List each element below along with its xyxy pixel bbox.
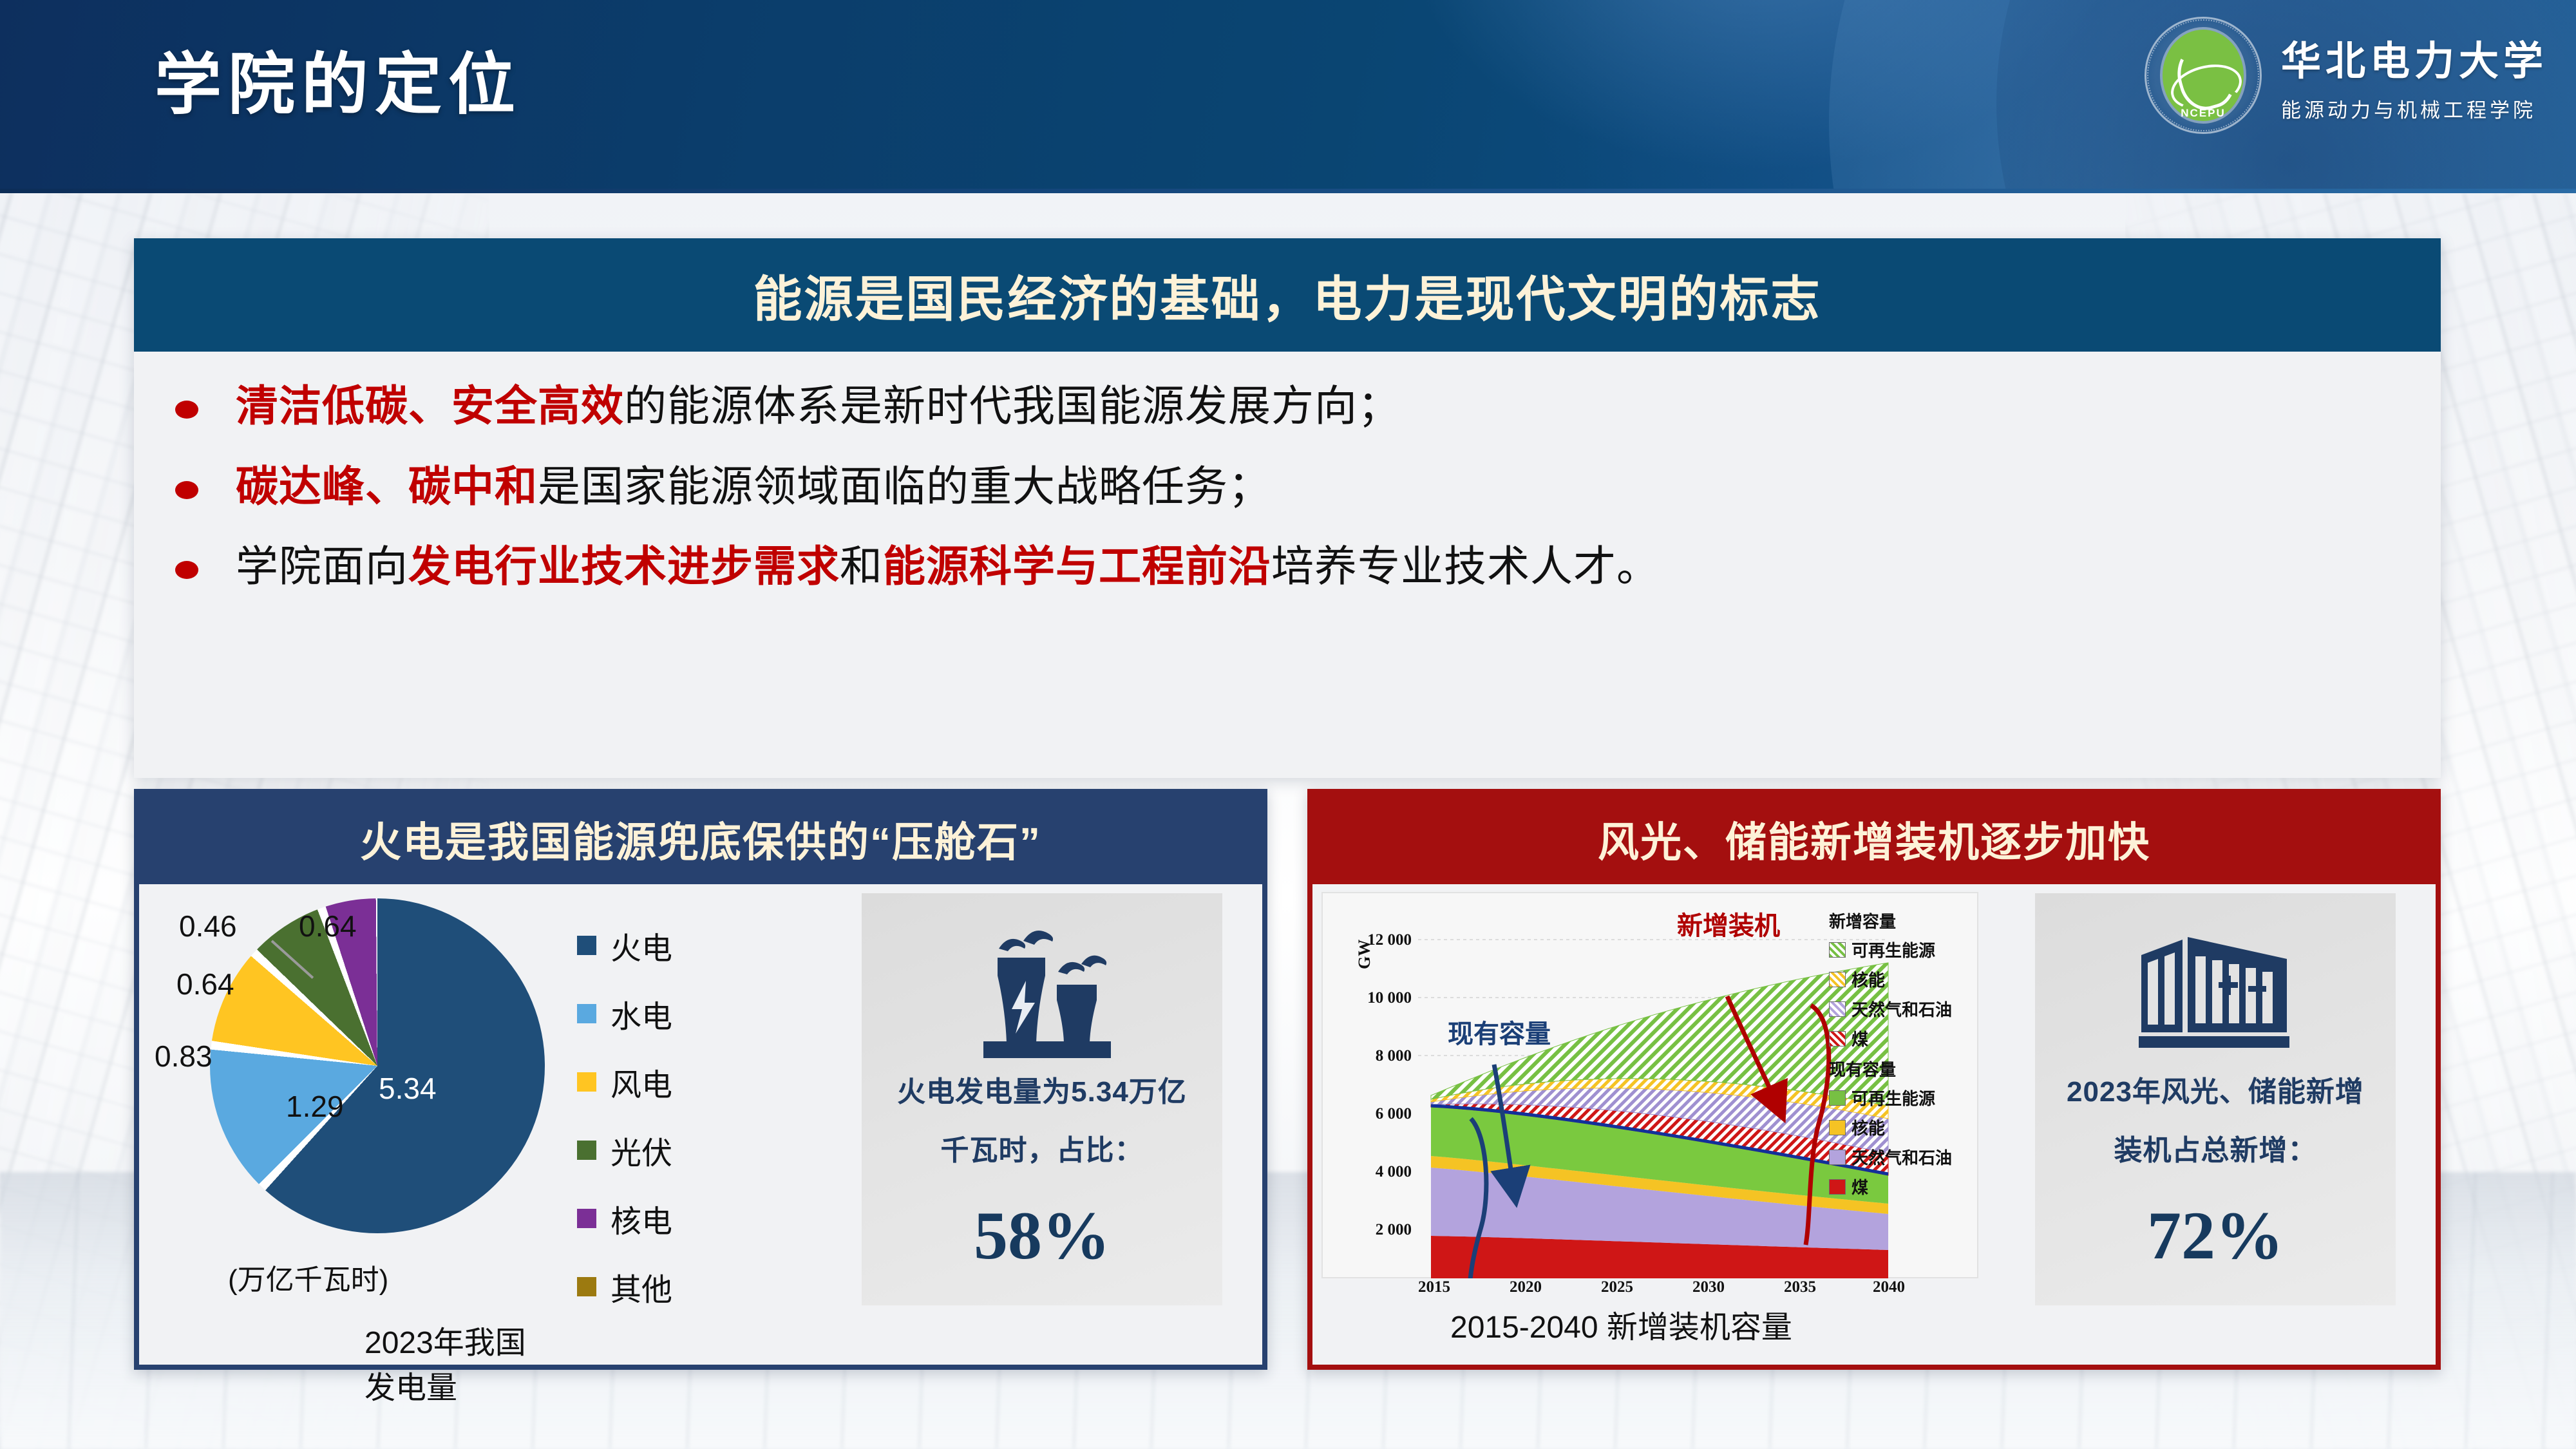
battery-container-icon <box>2135 915 2296 1076</box>
panel-right-body: 12 000 10 000 8 000 6 000 4 000 2 000 GW <box>1312 884 2436 1365</box>
pie-chart: 5.34 1.29 0.83 0.64 0.46 0.64 (万亿千瓦时) 20… <box>210 898 545 1233</box>
slide-header: 学院的定位 NCEPU 华北电力大学 能源动力与机械工程学院 <box>0 0 2576 193</box>
bullet-text: 清洁低碳、安全高效的能源体系是新时代我国能源发展方向； <box>236 380 1401 432</box>
legend-swatch-icon <box>577 1209 596 1228</box>
pie-label-fengdian: 0.83 <box>155 1039 213 1074</box>
thermal-stat-region: 火电发电量为5.34万亿 千瓦时，占比： 58% <box>822 884 1262 1365</box>
area-chart-legend: 新增容量可再生能源核能天然气和石油煤现有容量可再生能源核能天然气和石油煤 <box>1829 902 1990 1204</box>
area-legend-swatch-icon <box>1829 1001 1846 1017</box>
pie-slices <box>210 898 545 1233</box>
area-legend-swatch-icon <box>1829 1179 1846 1195</box>
bullet-item-2: 碳达峰、碳中和是国家能源领域面临的重大战略任务； <box>175 460 2401 513</box>
legend-swatch-icon <box>577 1277 596 1296</box>
area-legend-group-title-1: 新增容量 <box>1829 909 1990 933</box>
pie-chart-region: 5.34 1.29 0.83 0.64 0.46 0.64 (万亿千瓦时) 20… <box>139 884 822 1365</box>
svg-text:GW: GW <box>1355 940 1374 969</box>
area-legend-swatch-icon <box>1829 1090 1846 1106</box>
pie-legend-item-火电: 火电 <box>577 923 672 968</box>
storage-stat-line2: 装机占总新增： <box>2114 1135 2317 1168</box>
panel-renewable-storage: 风光、储能新增装机逐步加快 <box>1307 789 2441 1370</box>
bullet-item-3: 学院面向发电行业技术进步需求和能源科学与工程前沿培养专业技术人才。 <box>175 540 2401 592</box>
pie-label-hedian: 0.46 <box>179 909 237 943</box>
bullet-list: 清洁低碳、安全高效的能源体系是新时代我国能源发展方向；碳达峰、碳中和是国家能源领… <box>134 352 2441 592</box>
bullet-text: 学院面向发电行业技术进步需求和能源科学与工程前沿培养专业技术人才。 <box>236 540 1660 592</box>
svg-text:8 000: 8 000 <box>1376 1047 1412 1065</box>
area-legend-item-煤: 煤 <box>1829 1027 1990 1050</box>
bullet-segment-1: 学院面向 <box>236 542 408 590</box>
legend-swatch-icon <box>577 936 596 955</box>
svg-text:2 000: 2 000 <box>1376 1221 1412 1238</box>
storage-stat-value: 72% <box>2147 1197 2284 1275</box>
pie-legend-item-风电: 风电 <box>577 1059 672 1104</box>
pie-label-shuidian: 1.29 <box>286 1089 344 1124</box>
xtick-2025: 2025 <box>1601 1278 1633 1296</box>
xtick-2020: 2020 <box>1510 1278 1542 1296</box>
legend-swatch-icon <box>577 1141 596 1160</box>
area-legend-item-核能: 核能 <box>1829 967 1990 991</box>
storage-stat-region: 2023年风光、储能新增 装机占总新增： 72% <box>1995 884 2436 1365</box>
area-legend-label: 核能 <box>1851 967 1885 991</box>
xtick-2030: 2030 <box>1692 1278 1725 1296</box>
bullet-segment-1: 清洁低碳、安全高效 <box>236 382 624 430</box>
pie-unit-note: (万亿千瓦时) <box>228 1256 388 1298</box>
area-legend-swatch-icon <box>1829 1031 1846 1046</box>
pie-label-qita: 0.64 <box>299 909 357 943</box>
bullet-segment-2: 是国家能源领域面临的重大战略任务； <box>538 462 1271 510</box>
logo-wordmark: 华北电力大学 能源动力与机械工程学院 <box>2281 28 2548 123</box>
pie-chart-caption: 2023年我国发电量 <box>365 1317 545 1407</box>
panel-thermal-power: 火电是我国能源兜底保供的“压舱石” 5.34 1.29 0.83 0.64 0.… <box>134 789 1267 1370</box>
area-chart-region: 12 000 10 000 8 000 6 000 4 000 2 000 GW <box>1312 884 1995 1365</box>
legend-swatch-icon <box>577 1072 596 1092</box>
area-legend-label: 天然气和石油 <box>1851 997 1952 1021</box>
area-legend-group-title-2: 现有容量 <box>1829 1057 1990 1081</box>
panel-left-body: 5.34 1.29 0.83 0.64 0.46 0.64 (万亿千瓦时) 20… <box>139 884 1262 1365</box>
area-legend-swatch-icon <box>1829 972 1846 987</box>
bullet-segment-1: 碳达峰、碳中和 <box>236 462 538 510</box>
slide-canvas: 学院的定位 NCEPU 华北电力大学 能源动力与机械工程学院 能源是国民经济的基… <box>0 0 2576 1449</box>
bullet-dot-icon <box>175 561 198 579</box>
pie-legend-label: 风电 <box>611 1059 672 1104</box>
panel-left-title: 火电是我国能源兜底保供的“压舱石” <box>360 810 1041 869</box>
bullet-text: 碳达峰、碳中和是国家能源领域面临的重大战略任务； <box>236 460 1271 513</box>
pie-legend-item-其他: 其他 <box>577 1264 672 1309</box>
annotation-new-capacity: 新增装机 <box>1677 905 1780 942</box>
pie-legend-label: 火电 <box>611 923 672 968</box>
xtick-2040: 2040 <box>1873 1278 1905 1296</box>
bullet-segment-3: 和 <box>840 542 883 590</box>
emblem-ncepu-text: NCEPU <box>2145 107 2262 120</box>
area-chart-caption: 2015-2040 新增装机容量 <box>1450 1302 1792 1347</box>
svg-text:10 000: 10 000 <box>1367 989 1412 1007</box>
thermal-stat-line1: 火电发电量为5.34万亿 <box>897 1076 1187 1109</box>
area-legend-item-煤: 煤 <box>1829 1175 1990 1198</box>
power-plant-icon <box>961 915 1122 1076</box>
bullet-item-1: 清洁低碳、安全高效的能源体系是新时代我国能源发展方向； <box>175 380 2401 432</box>
pie-legend-item-光伏: 光伏 <box>577 1128 672 1173</box>
bullet-segment-4: 能源科学与工程前沿 <box>883 542 1271 590</box>
header-underline <box>0 189 2576 193</box>
storage-stat-line1: 2023年风光、储能新增 <box>2067 1076 2364 1109</box>
svg-text:6 000: 6 000 <box>1376 1105 1412 1122</box>
area-legend-item-可再生能源: 可再生能源 <box>1829 1086 1990 1110</box>
panel-right-header: 风光、储能新增装机逐步加快 <box>1312 794 2436 884</box>
panel-right-title: 风光、储能新增装机逐步加快 <box>1598 810 2150 869</box>
area-legend-label: 煤 <box>1851 1175 1868 1198</box>
area-legend-label: 天然气和石油 <box>1851 1145 1952 1169</box>
area-legend-label: 可再生能源 <box>1851 938 1935 961</box>
annotation-existing-capacity: 现有容量 <box>1448 1013 1551 1050</box>
pie-legend-item-水电: 水电 <box>577 991 672 1036</box>
xtick-2035: 2035 <box>1784 1278 1816 1296</box>
area-legend-item-核能: 核能 <box>1829 1115 1990 1139</box>
pie-legend-item-核电: 核电 <box>577 1196 672 1241</box>
pie-legend-label: 核电 <box>611 1196 672 1241</box>
area-legend-label: 可再生能源 <box>1851 1086 1935 1110</box>
university-name: 华北电力大学 <box>2281 28 2548 86</box>
pie-legend: 火电水电风电光伏核电其他 <box>577 923 672 1332</box>
area-legend-swatch-icon <box>1829 1120 1846 1135</box>
area-legend-label: 核能 <box>1851 1115 1885 1139</box>
university-logo-block: NCEPU 华北电力大学 能源动力与机械工程学院 <box>2145 17 2548 134</box>
xtick-2015: 2015 <box>1418 1278 1450 1296</box>
area-legend-label: 煤 <box>1851 1027 1868 1050</box>
main-content-card: 能源是国民经济的基础，电力是现代文明的标志 清洁低碳、安全高效的能源体系是新时代… <box>134 238 2441 778</box>
storage-stat-box: 2023年风光、储能新增 装机占总新增： 72% <box>2035 893 2396 1305</box>
legend-swatch-icon <box>577 1004 596 1023</box>
area-legend-swatch-icon <box>1829 942 1846 958</box>
bullet-segment-2: 发电行业技术进步需求 <box>408 542 840 590</box>
bullet-segment-5: 培养专业技术人才。 <box>1271 542 1660 590</box>
area-legend-item-可再生能源: 可再生能源 <box>1829 938 1990 961</box>
ncepu-emblem-icon: NCEPU <box>2145 17 2262 134</box>
thermal-stat-line2: 千瓦时，占比： <box>941 1135 1144 1168</box>
pie-label-huodian: 5.34 <box>379 1071 437 1106</box>
bullet-dot-icon <box>175 481 198 499</box>
panel-left-header: 火电是我国能源兜底保供的“压舱石” <box>139 794 1262 884</box>
content-banner: 能源是国民经济的基础，电力是现代文明的标志 <box>134 238 2441 352</box>
bullet-segment-2: 的能源体系是新时代我国能源发展方向； <box>624 382 1401 430</box>
area-x-tick-row: 2015 2020 2025 2030 2035 2040 <box>1321 1278 1901 1304</box>
bullet-dot-icon <box>175 401 198 419</box>
school-name: 能源动力与机械工程学院 <box>2281 94 2548 123</box>
pie-label-guangfu: 0.64 <box>176 967 234 1001</box>
svg-text:4 000: 4 000 <box>1376 1163 1412 1180</box>
svg-text:12 000: 12 000 <box>1367 931 1412 949</box>
content-banner-text: 能源是国民经济的基础，电力是现代文明的标志 <box>753 260 1822 330</box>
page-title: 学院的定位 <box>155 30 522 127</box>
pie-legend-label: 水电 <box>611 991 672 1036</box>
pie-legend-label: 光伏 <box>611 1128 672 1173</box>
pie-legend-label: 其他 <box>611 1264 672 1309</box>
area-legend-item-天然气和石油: 天然气和石油 <box>1829 997 1990 1021</box>
thermal-stat-box: 火电发电量为5.34万亿 千瓦时，占比： 58% <box>862 893 1222 1305</box>
area-legend-swatch-icon <box>1829 1150 1846 1165</box>
thermal-stat-value: 58% <box>974 1197 1110 1275</box>
area-legend-item-天然气和石油: 天然气和石油 <box>1829 1145 1990 1169</box>
